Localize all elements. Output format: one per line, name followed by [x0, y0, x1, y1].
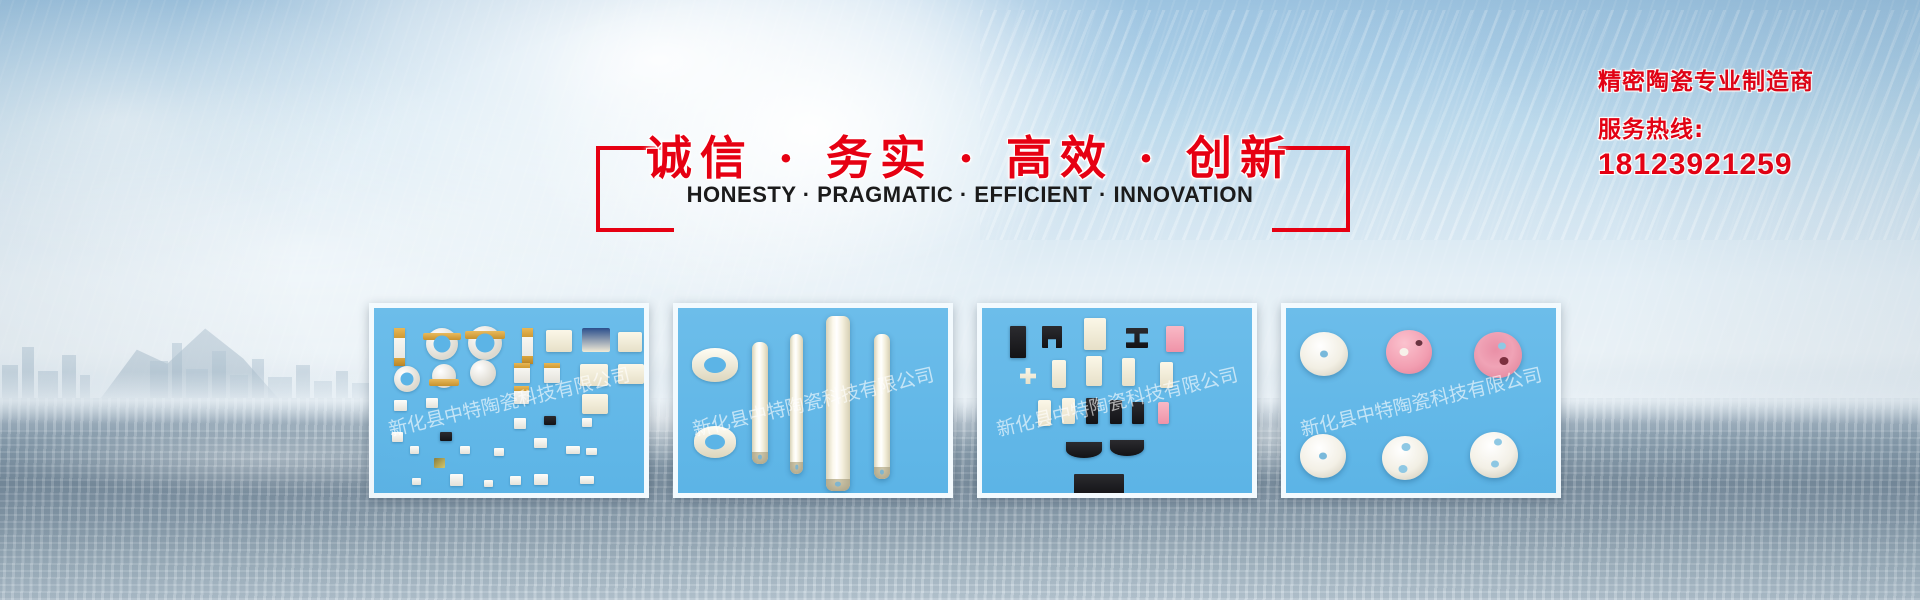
hotline-label: 服务热线: [1598, 110, 1868, 144]
hotline-phone-number[interactable]: 18123921259 [1598, 148, 1868, 182]
part [514, 418, 526, 429]
part [1166, 326, 1184, 352]
part [692, 348, 738, 382]
part [494, 448, 504, 456]
slogan-english: HONESTY · PRAGMATIC · EFFICIENT · INNOVA… [560, 182, 1380, 208]
part [1074, 474, 1124, 496]
part [1084, 318, 1106, 350]
slogan-chinese: 诚信 · 务实 · 高效 · 创新 [560, 122, 1380, 188]
part [394, 400, 407, 411]
part [1158, 402, 1169, 424]
part [566, 446, 580, 454]
part [544, 416, 556, 425]
part [580, 364, 608, 386]
part [694, 426, 736, 458]
part [586, 448, 597, 455]
part [1386, 330, 1432, 374]
panel-background [678, 308, 948, 493]
part [1300, 434, 1346, 478]
part [1474, 332, 1522, 378]
part [580, 476, 594, 484]
part [582, 394, 608, 414]
part [1086, 356, 1102, 386]
company-tagline: 精密陶瓷专业制造商 [1598, 62, 1868, 96]
part [394, 328, 405, 366]
part [484, 480, 493, 487]
part [468, 326, 502, 360]
product-panel-smd-components[interactable]: 新化县中特陶瓷科技有限公司 [369, 303, 649, 498]
part [790, 334, 803, 474]
part [514, 386, 529, 404]
part [434, 458, 445, 468]
part [546, 330, 572, 352]
part [582, 418, 592, 427]
part [1382, 436, 1428, 480]
product-panel-ceramic-tubes[interactable]: 新化县中特陶瓷科技有限公司 [673, 303, 953, 498]
part [426, 328, 458, 360]
part [1038, 400, 1051, 426]
part [460, 446, 470, 454]
part [1010, 326, 1026, 358]
bracket-bottom-right-icon [1272, 228, 1350, 232]
hero-banner: 诚信 · 务实 · 高效 · 创新 HONESTY · PRAGMATIC · … [0, 0, 1920, 600]
part [1066, 442, 1102, 458]
part [1470, 432, 1518, 478]
part [752, 342, 768, 464]
part [1110, 440, 1144, 456]
part [394, 366, 420, 392]
part [522, 328, 533, 364]
bracket-bottom-left-icon [596, 228, 674, 232]
part [1160, 362, 1173, 388]
part [1062, 398, 1075, 424]
product-gallery: 新化县中特陶瓷科技有限公司 新化县中特陶瓷科技有限公司 [369, 303, 1561, 498]
part [618, 332, 642, 352]
part [426, 398, 438, 408]
part [410, 446, 419, 454]
contact-block: 精密陶瓷专业制造商 服务热线: 18123921259 [1598, 62, 1868, 182]
part [1110, 400, 1122, 424]
part [826, 316, 850, 491]
part [534, 474, 548, 485]
part [1132, 402, 1144, 424]
part [514, 363, 530, 383]
part [450, 474, 463, 486]
part [1052, 360, 1066, 388]
part [432, 364, 456, 388]
part [582, 328, 610, 352]
part [510, 476, 521, 485]
product-panel-ceramic-discs[interactable]: 新化县中特陶瓷科技有限公司 [1281, 303, 1561, 498]
part [440, 432, 452, 441]
part [1122, 358, 1135, 386]
part [1086, 398, 1098, 424]
part [618, 364, 644, 384]
slogan-block: 诚信 · 务实 · 高效 · 创新 HONESTY · PRAGMATIC · … [560, 118, 1380, 228]
product-panel-ceramic-blocks[interactable]: 新化县中特陶瓷科技有限公司 [977, 303, 1257, 498]
part [470, 360, 496, 386]
part [534, 438, 547, 448]
part [544, 363, 560, 383]
part [412, 478, 421, 485]
part [1300, 332, 1348, 376]
part [874, 334, 890, 479]
part [392, 432, 403, 442]
